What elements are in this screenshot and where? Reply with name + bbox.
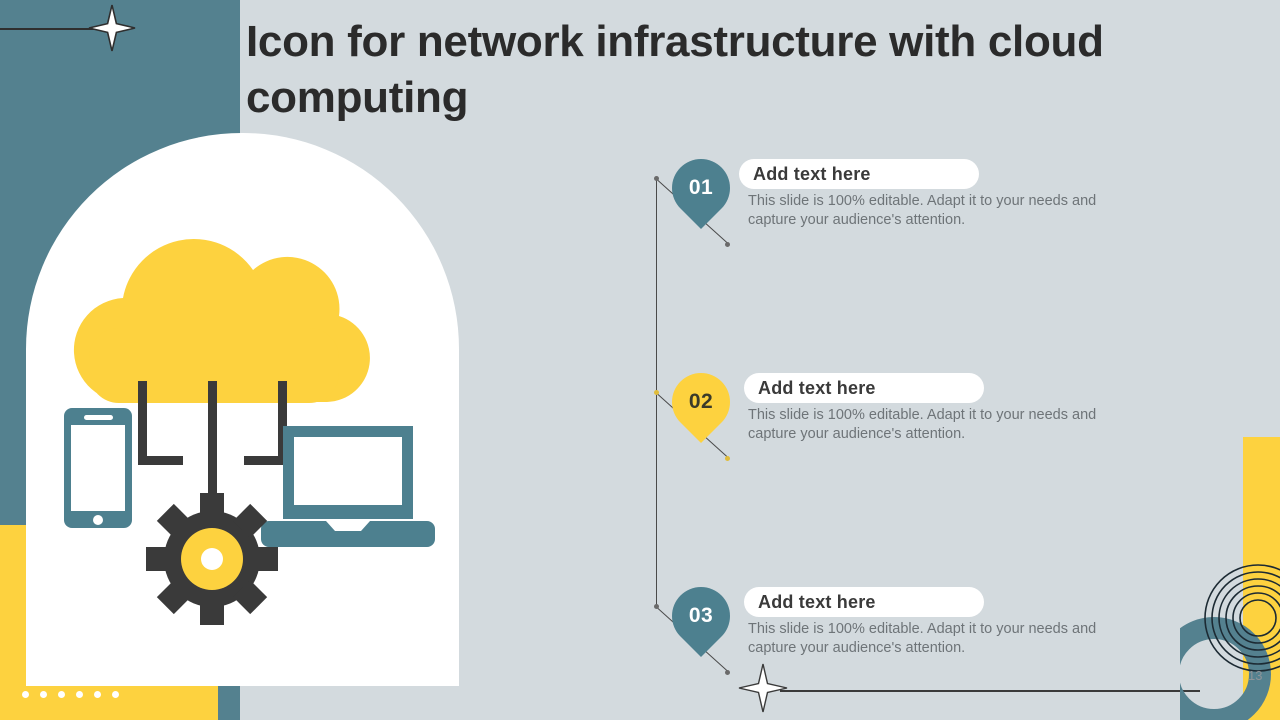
dot <box>22 691 29 698</box>
heading-pill-01[interactable]: Add text here <box>739 159 979 189</box>
step-number: 01 <box>672 159 730 217</box>
leader-dot-start <box>654 390 659 395</box>
leader-dot-end <box>725 456 730 461</box>
dot <box>94 691 101 698</box>
leader-dot-end <box>725 670 730 675</box>
step-number: 02 <box>672 373 730 431</box>
dot <box>58 691 65 698</box>
concentric-rings-decoration <box>1180 555 1280 720</box>
item-heading: Add text here <box>758 592 876 613</box>
page-number: 13 <box>1248 668 1262 683</box>
item-heading: Add text here <box>753 164 871 185</box>
step-marker-01[interactable]: 01 <box>660 147 742 229</box>
leader-dot-start <box>654 604 659 609</box>
dot <box>40 691 47 698</box>
decorative-dot-row <box>22 691 119 698</box>
dot <box>76 691 83 698</box>
slide-canvas: Icon for network infrastructure with clo… <box>0 0 1280 720</box>
leader-dot-end <box>725 242 730 247</box>
heading-pill-02[interactable]: Add text here <box>744 373 984 403</box>
four-point-star-icon <box>88 4 136 52</box>
item-body: This slide is 100% editable. Adapt it to… <box>748 406 1118 443</box>
gear-icon <box>146 493 278 625</box>
leader-dot-start <box>654 176 659 181</box>
dot <box>112 691 119 698</box>
laptop-icon <box>261 426 435 547</box>
step-number: 03 <box>672 587 730 645</box>
bottom-accent-line <box>780 690 1200 692</box>
cloud-computing-illustration <box>26 133 459 686</box>
item-body: This slide is 100% editable. Adapt it to… <box>748 192 1118 229</box>
slide-title: Icon for network infrastructure with clo… <box>246 14 1176 127</box>
heading-pill-03[interactable]: Add text here <box>744 587 984 617</box>
step-marker-02[interactable]: 02 <box>660 361 742 443</box>
cloud-shape <box>74 239 370 403</box>
item-heading: Add text here <box>758 378 876 399</box>
step-marker-03[interactable]: 03 <box>660 575 742 657</box>
four-point-star-icon <box>738 663 788 713</box>
item-body: This slide is 100% editable. Adapt it to… <box>748 620 1118 657</box>
smartphone-icon <box>64 408 132 528</box>
